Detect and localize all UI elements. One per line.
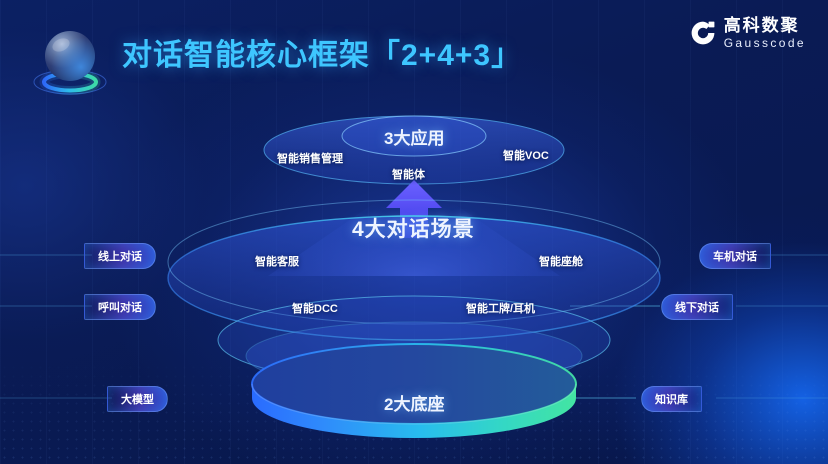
side-label-offline-dialogue[interactable]: 线下对话 bbox=[661, 294, 733, 320]
side-label-knowledge-base[interactable]: 知识库 bbox=[641, 386, 702, 412]
side-label-online-dialogue[interactable]: 线上对话 bbox=[84, 243, 156, 269]
node-intelligent-sales-management[interactable]: 智能销售管理 bbox=[277, 150, 343, 166]
node-intelligent-dcc[interactable]: 智能DCC bbox=[292, 300, 338, 316]
tier-title-scenarios: 4大对话场景 bbox=[352, 213, 475, 243]
slide-canvas: 对话智能核心框架「2+4+3」 高科数聚 Gausscode bbox=[0, 0, 828, 464]
node-intelligent-cockpit[interactable]: 智能座舱 bbox=[539, 253, 583, 269]
node-intelligent-badge-headset[interactable]: 智能工牌/耳机 bbox=[466, 300, 535, 316]
node-intelligent-voc[interactable]: 智能VOC bbox=[503, 147, 549, 163]
side-label-call-dialogue[interactable]: 呼叫对话 bbox=[84, 294, 156, 320]
side-label-vehicle-dialogue[interactable]: 车机对话 bbox=[699, 243, 771, 269]
tier-title-applications: 3大应用 bbox=[384, 124, 444, 149]
tier-title-foundation: 2大底座 bbox=[384, 390, 444, 415]
side-label-large-model[interactable]: 大模型 bbox=[107, 386, 168, 412]
node-agent[interactable]: 智能体 bbox=[392, 166, 425, 182]
node-intelligent-customer-service[interactable]: 智能客服 bbox=[255, 253, 299, 269]
